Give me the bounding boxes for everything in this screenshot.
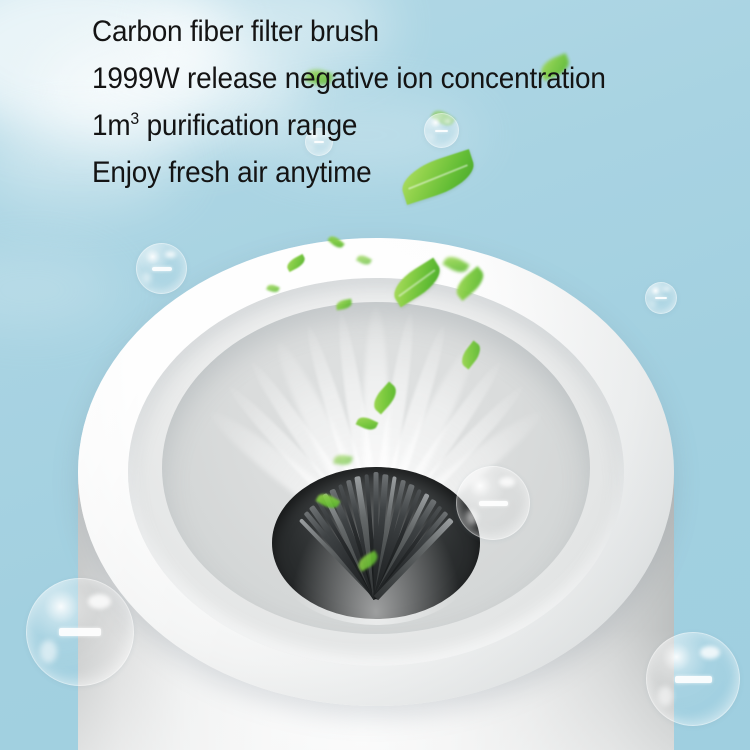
bubble-secondary-highlight — [658, 686, 673, 706]
bubble-specular-highlight — [88, 594, 111, 609]
minus-icon — [479, 501, 508, 506]
bubble-specular-highlight — [499, 477, 515, 487]
headline-line-1: Carbon fiber filter brush — [92, 8, 687, 55]
bubble-left-edge — [26, 578, 134, 686]
product-banner: Carbon fiber filter brush 1999W release … — [0, 0, 750, 750]
bubble-specular-highlight — [165, 251, 176, 258]
bubble-specular-highlight — [700, 646, 720, 659]
bubble-upper-right — [645, 282, 677, 314]
bubble-bottom-right — [646, 632, 740, 726]
headline-line-2: 1999W release negative ion concentration — [92, 55, 687, 102]
purifier-bowl — [162, 302, 590, 634]
bubble-secondary-highlight — [466, 509, 478, 525]
minus-icon — [675, 676, 712, 683]
minus-icon — [59, 628, 101, 636]
bubble-secondary-highlight — [650, 300, 655, 307]
bubble-secondary-highlight — [40, 640, 57, 663]
headline-block: Carbon fiber filter brush 1999W release … — [92, 8, 687, 196]
bubble-top-left — [136, 243, 187, 294]
headline-line-3-prefix: 1m — [92, 109, 130, 142]
headline-line-4: Enjoy fresh air anytime — [92, 149, 687, 196]
bubble-secondary-highlight — [143, 272, 151, 283]
bubble-specular-highlight — [663, 287, 670, 291]
minus-icon — [655, 297, 667, 299]
headline-line-3: 1m3 purification range — [92, 102, 687, 149]
purifier-intake-hole — [272, 467, 480, 619]
headline-line-3-suffix: purification range — [139, 109, 357, 142]
minus-icon — [152, 267, 172, 271]
headline-line-3-superscript: 3 — [130, 109, 139, 128]
bubble-center-right — [456, 466, 530, 540]
